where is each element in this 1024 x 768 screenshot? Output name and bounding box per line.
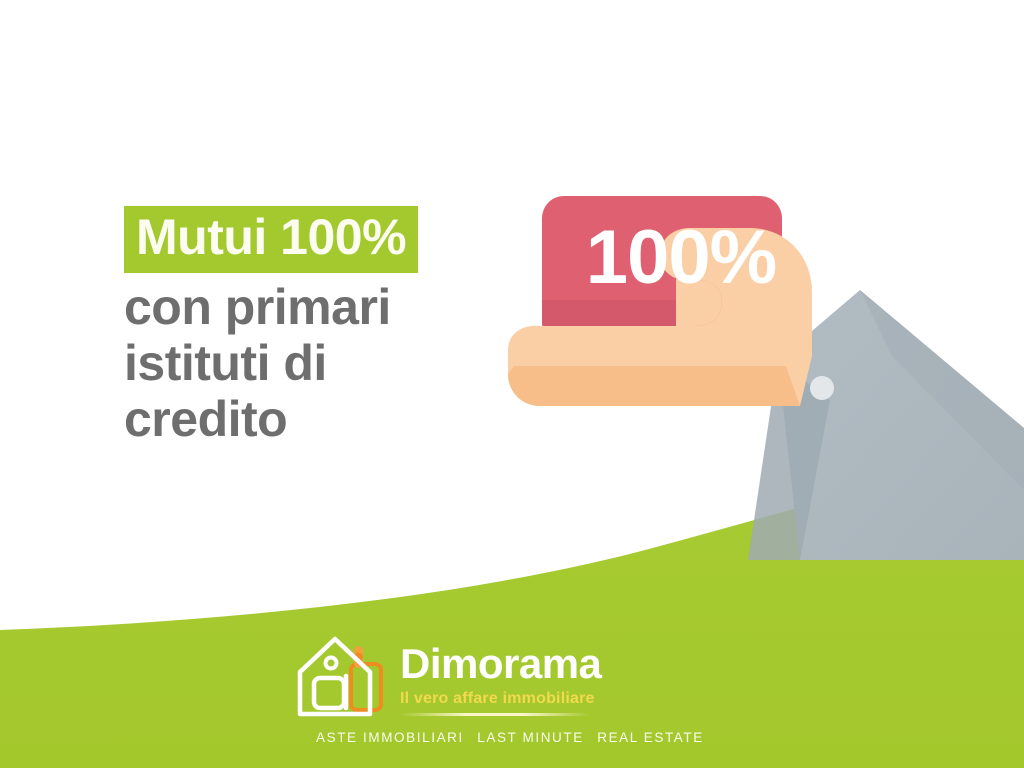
house-logo-icon <box>290 630 396 726</box>
strapline-part-1: ASTE IMMOBILIARI <box>316 730 464 745</box>
logo-name: Dimorama <box>400 643 601 685</box>
illustration-svg <box>500 160 1024 560</box>
strapline-part-2: LAST MINUTE <box>477 730 584 745</box>
keyhole-icon <box>326 658 337 669</box>
headline-subtext: con primari istituti di credito <box>124 279 554 447</box>
headline-line-3: credito <box>124 391 554 447</box>
headline-line-1: con primari <box>124 279 554 335</box>
headline-line-2: istituti di <box>124 335 554 391</box>
logo-underline-divider <box>400 713 590 716</box>
headline-highlight-wrap: Mutui 100% <box>124 206 554 273</box>
sleeve-button-icon <box>810 376 834 400</box>
logo-strapline: ASTE IMMOBILIARI LAST MINUTE REAL ESTATE <box>316 730 704 745</box>
strapline-part-3: REAL ESTATE <box>597 730 704 745</box>
hand-with-card-illustration: 100% <box>500 160 1024 560</box>
logo-row: Dimorama Il vero affare immobiliare <box>290 630 601 726</box>
dimorama-logo[interactable]: Dimorama Il vero affare immobiliare ASTE… <box>290 626 690 758</box>
logo-wordmark: Dimorama Il vero affare immobiliare <box>400 641 601 716</box>
headline-highlight: Mutui 100% <box>124 206 418 273</box>
house-icon-svg <box>290 630 396 726</box>
promo-banner: 100% Mutui 100% con primari istituti di … <box>0 0 1024 768</box>
headline-block: Mutui 100% con primari istituti di credi… <box>124 206 554 447</box>
logo-tagline: Il vero affare immobiliare <box>400 691 601 707</box>
